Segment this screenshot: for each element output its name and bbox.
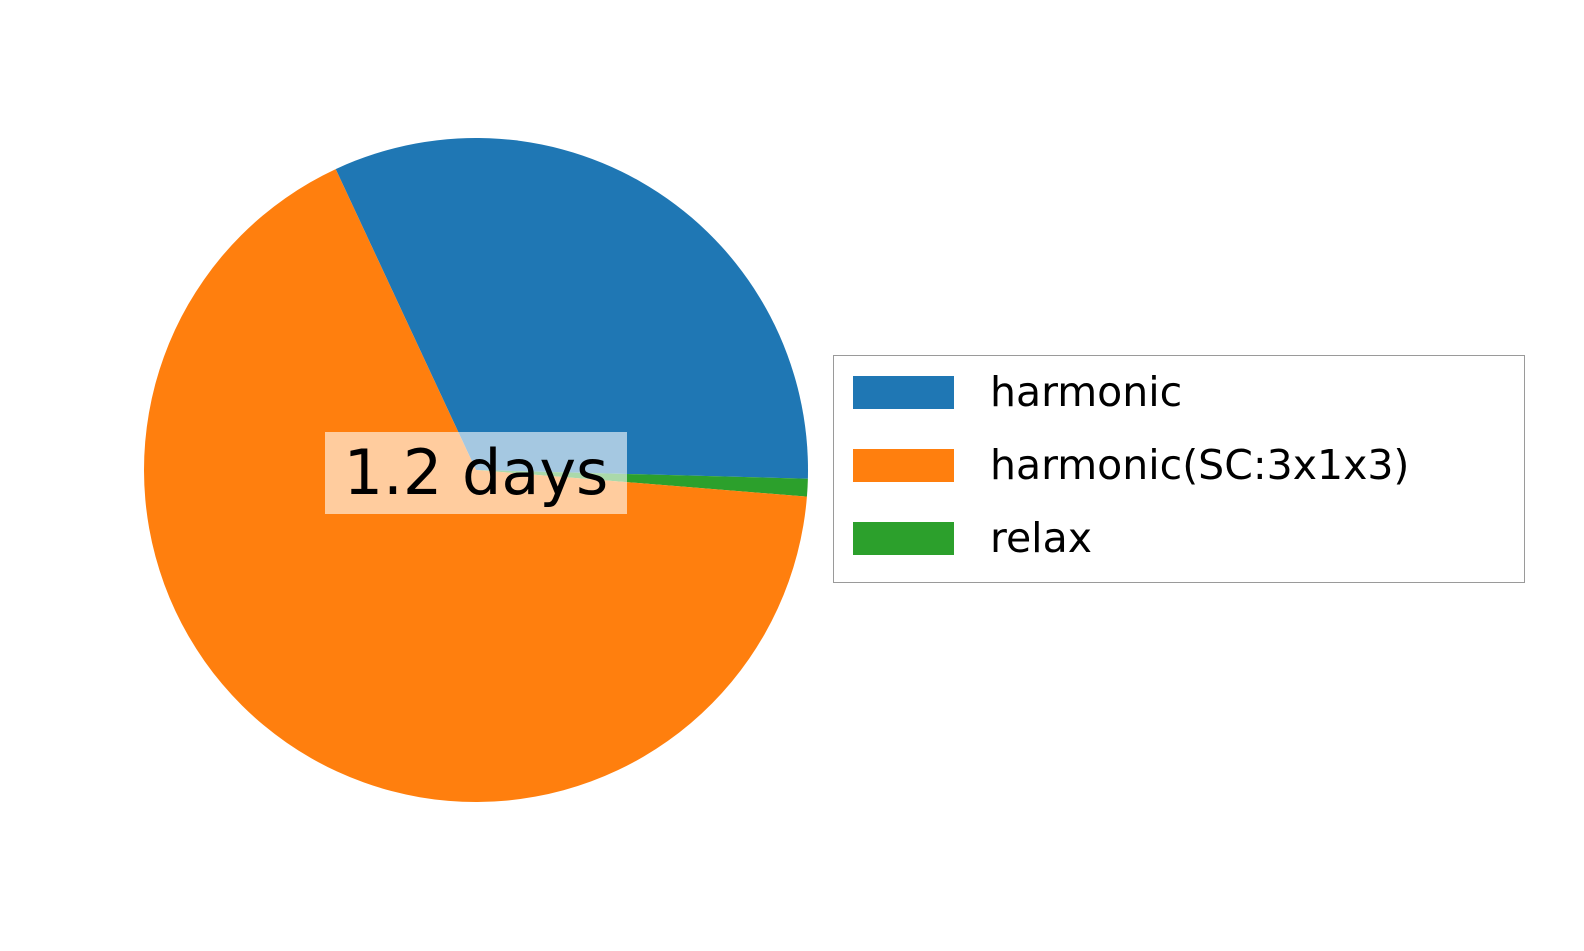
legend-label-relax: relax: [990, 518, 1092, 559]
legend-swatch-relax: [853, 522, 954, 555]
legend-swatch-harmonic: [853, 376, 954, 409]
pie-chart-figure: 1.2 days harmonic harmonic(SC:3x1x3) rel…: [0, 0, 1584, 951]
pie-slice-group: [144, 138, 808, 802]
legend-label-harmonic: harmonic: [990, 372, 1182, 413]
legend-swatch-harmonic-sc-3x1x3: [853, 449, 954, 482]
legend-label-harmonic-sc-3x1x3: harmonic(SC:3x1x3): [990, 445, 1409, 486]
legend-item-relax[interactable]: relax: [853, 515, 1092, 561]
legend-item-harmonic[interactable]: harmonic: [853, 369, 1182, 415]
chart-legend: harmonic harmonic(SC:3x1x3) relax: [833, 355, 1525, 583]
legend-item-harmonic-sc-3x1x3[interactable]: harmonic(SC:3x1x3): [853, 442, 1409, 488]
